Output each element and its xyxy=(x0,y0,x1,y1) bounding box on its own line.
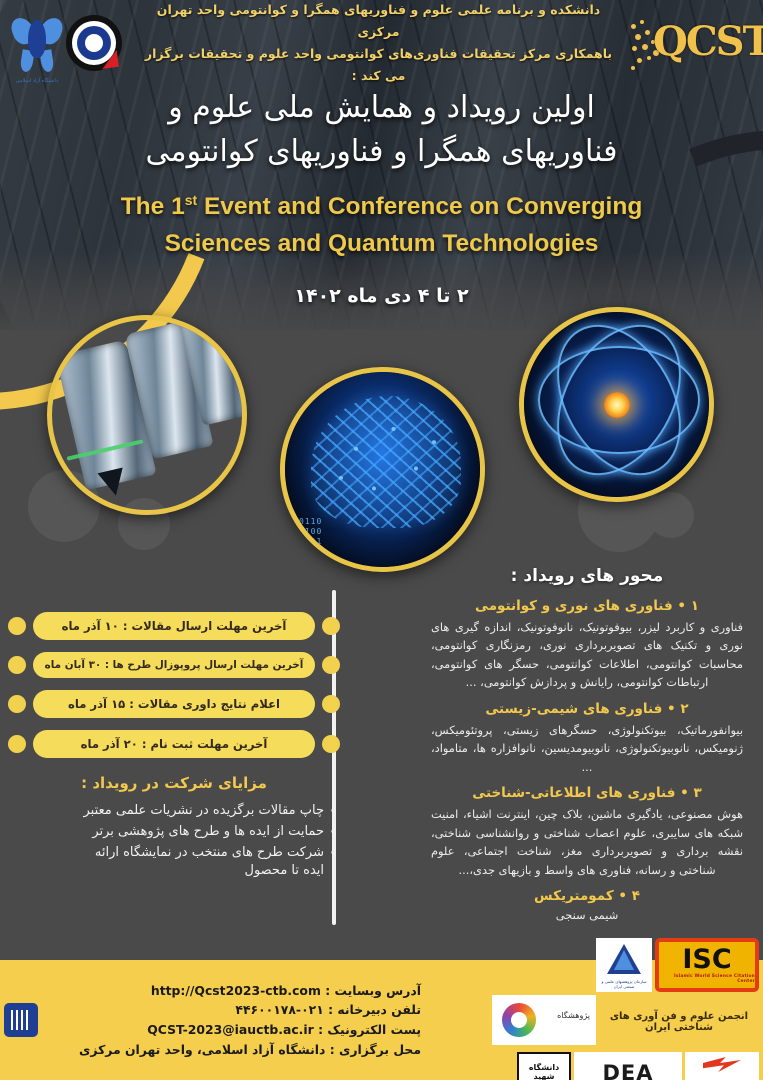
deadline-pill[interactable]: آخرین مهلت ارسال مقالات : ۱۰ آذر ماه xyxy=(33,612,315,640)
deadlines-column: آخرین مهلت ارسال مقالات : ۱۰ آذر ماه آخر… xyxy=(8,560,340,878)
email-label: پست الکترونیک : xyxy=(318,1022,421,1037)
topic-number: ۲ xyxy=(680,701,688,717)
email-address[interactable]: QCST-2023@iauctb.ac.ir xyxy=(147,1020,313,1040)
bullet-dot-icon xyxy=(322,617,340,635)
deadline-row: آخرین مهلت ارسال مقالات : ۱۰ آذر ماه xyxy=(8,612,340,640)
binary-digits-text: 0110010010011001 xyxy=(299,517,322,557)
atom-photo xyxy=(519,307,714,502)
english-title: The 1st Event and Conference on Convergi… xyxy=(0,189,763,263)
phone-number: ۰۲۱-۴۴۶۰۰۱۷۸ xyxy=(235,1002,323,1017)
islamic-azad-university-logo: دانشگاه آزاد اسلامی xyxy=(12,12,62,74)
email-line: پست الکترونیک : QCST-2023@iauctb.ac.ir xyxy=(46,1020,421,1040)
poster-footer: ISC Islamic World Science Citation Cente… xyxy=(0,960,763,1080)
event-date: ۲ تا ۴ دی ماه ۱۴۰۲ xyxy=(0,285,763,307)
topic-item: ۴ • کمومتریکس شیمی سنجی xyxy=(431,888,743,922)
venue-line: محل برگزاری : دانشگاه آزاد اسلامی، واحد … xyxy=(46,1040,421,1060)
power-research-logo: پژوهشگاه نیرو xyxy=(685,1052,759,1080)
topics-heading: محور های رویداد : xyxy=(431,566,743,586)
microscope-photo xyxy=(47,315,247,515)
conference-poster: QCST دانشکده و برنامه علمی علوم و فناوری… xyxy=(0,0,763,1080)
deadline-pill[interactable]: آخرین مهلت ارسال پروپوزال طرح ها : ۳۰ آب… xyxy=(33,652,315,678)
association-logo-text: انجمن علوم و فن آوری های شناختی ایران xyxy=(603,1011,755,1033)
benefit-item: حمایت از ایده ها و طرح های پژوهشی برتر xyxy=(8,821,340,842)
topic-title: ۲ • فناوری های شیمی-زیستی xyxy=(431,701,743,717)
english-title-line-1: The 1st Event and Conference on Convergi… xyxy=(30,189,733,226)
phone-label: تلفن دبیرخانه : xyxy=(328,1002,421,1017)
topics-column: محور های رویداد : ۱ • فناوری های نوری و … xyxy=(425,560,755,922)
phone-line: تلفن دبیرخانه : ۰۲۱-۴۴۶۰۰۱۷۸ xyxy=(46,1000,421,1020)
topic-number: ۴ xyxy=(632,888,640,904)
dea-logo: DEA IRANIAN DEA SOCIETY xyxy=(574,1052,682,1080)
bullet-dot-icon xyxy=(8,617,26,635)
venue-text: دانشگاه آزاد اسلامی، واحد تهران مرکزی xyxy=(79,1042,325,1057)
topic-name: فناوری های اطلاعاتی-شناختی xyxy=(472,785,675,801)
footer-contact-block: آدرس وبسایت : http://Qcst2023-ctb.com تل… xyxy=(0,960,431,1080)
header-logos: دانشگاه آزاد اسلامی xyxy=(4,3,130,83)
topic-title: ۴ • کمومتریکس xyxy=(431,888,743,904)
contact-lines: آدرس وبسایت : http://Qcst2023-ctb.com تل… xyxy=(46,981,421,1059)
isc-logo-title: ISC xyxy=(682,946,731,973)
topic-number: ۱ xyxy=(691,598,699,614)
iau-logo-caption: دانشگاه آزاد اسلامی xyxy=(12,78,62,84)
topic-name: کمومتریکس xyxy=(534,888,614,904)
rainbow-circle-logo: پژوهشگاه xyxy=(492,995,596,1045)
bullet-dot-icon xyxy=(322,656,340,674)
header-line-1: دانشکده و برنامه علمی علوم و فناوریهای ه… xyxy=(138,0,619,43)
deadline-row: آخرین مهلت ثبت نام : ۲۰ آذر ماه xyxy=(8,730,340,758)
bullet-dot-icon xyxy=(322,735,340,753)
benefit-continuation: ایده تا محصول xyxy=(8,863,340,878)
qcst-logo-text: QCST xyxy=(653,18,763,65)
cognitive-science-association-logo: انجمن علوم و فن آوری های شناختی ایران xyxy=(599,995,759,1049)
poster-header: QCST دانشکده و برنامه علمی علوم و فناوری… xyxy=(0,0,763,86)
isc-logo: ISC Islamic World Science Citation Cente… xyxy=(655,938,759,992)
deadline-row: اعلام نتایج داوری مقالات : ۱۵ آذر ماه xyxy=(8,690,340,718)
website-url[interactable]: http://Qcst2023-ctb.com xyxy=(151,981,321,1001)
topic-name: فناوری های شیمی-زیستی xyxy=(485,701,662,717)
benefit-item: چاپ مقالات برگزیده در نشریات علمی معتبر xyxy=(8,800,340,821)
sbu-logo-text: دانشگاه شهید بهشتی xyxy=(521,1063,567,1080)
ordinal-suffix: st xyxy=(185,192,197,208)
poster-body: محور های رویداد : ۱ • فناوری های نوری و … xyxy=(0,560,763,960)
irost-logo-caption: سازمان پژوهشهای علمی و صنعتی ایران xyxy=(596,979,652,989)
circuit-brain-photo: 0110010010011001 xyxy=(280,367,485,572)
title-block: اولین رویداد و همایش ملی علوم و فناوریها… xyxy=(0,86,763,307)
topic-item: ۳ • فناوری های اطلاعاتی-شناختی هوش مصنوع… xyxy=(431,785,743,879)
bullet-dot-icon xyxy=(8,735,26,753)
topic-body: هوش مصنوعی، یادگیری ماشین، بلاک چین، این… xyxy=(431,805,743,879)
english-title-prefix: The 1 xyxy=(121,193,185,220)
topic-title: ۱ • فناوری های نوری و کوانتومی xyxy=(431,598,743,614)
benefit-item: شرکت طرح های منتخب در نمایشگاه ارائه xyxy=(8,842,340,863)
dea-logo-title: DEA xyxy=(602,1063,653,1080)
header-organizer-text: دانشکده و برنامه علمی علوم و فناوریهای ه… xyxy=(130,0,627,87)
english-title-line-2: Sciences and Quantum Technologies xyxy=(30,226,733,263)
footer-sponsor-logos: ISC Islamic World Science Citation Cente… xyxy=(431,960,763,1080)
deadline-pill[interactable]: اعلام نتایج داوری مقالات : ۱۵ آذر ماه xyxy=(33,690,315,718)
header-line-2: باهمکاری مرکز تحقیقات فناوری‌های کوانتوم… xyxy=(138,43,619,87)
irost-triangle-logo: سازمان پژوهشهای علمی و صنعتی ایران xyxy=(596,938,652,992)
isc-logo-subtitle: Islamic World Science Citation Center xyxy=(659,975,755,984)
topic-item: ۲ • فناوری های شیمی-زیستی بیوانفورماتیک،… xyxy=(431,701,743,776)
deadline-pill[interactable]: آخرین مهلت ثبت نام : ۲۰ آذر ماه xyxy=(33,730,315,758)
website-line: آدرس وبسایت : http://Qcst2023-ctb.com xyxy=(46,981,421,1001)
topic-name: فناوری های نوری و کوانتومی xyxy=(475,598,673,614)
feature-image-row: 0110010010011001 xyxy=(0,305,763,570)
bullet-dot-icon xyxy=(8,695,26,713)
english-title-rest: Event and Conference on Converging xyxy=(197,193,642,220)
bullet-dot-icon xyxy=(322,695,340,713)
building-icon xyxy=(4,1003,38,1037)
persian-title: اولین رویداد و همایش ملی علوم و فناوریها… xyxy=(0,86,763,173)
topic-body: بیوانفورماتیک، بیوتکنولوژی، حسگرهای زیست… xyxy=(431,721,743,776)
benefits-heading: مزایای شرکت در رویداد : xyxy=(8,774,340,792)
persian-title-line-2: فناوریهای همگرا و فناوریهای کوانتومی xyxy=(40,130,723,174)
venue-label: محل برگزاری : xyxy=(330,1042,421,1057)
website-label: آدرس وبسایت : xyxy=(325,983,421,998)
qcst-logo: QCST xyxy=(627,4,759,82)
topic-number: ۳ xyxy=(693,785,701,801)
topic-body: فناوری و کاربرد لیزر، بیوفوتونیک، نانوفو… xyxy=(431,618,743,692)
quantum-research-center-logo xyxy=(66,15,122,71)
bullet-dot-icon xyxy=(8,656,26,674)
lightning-bolt-icon xyxy=(703,1057,741,1072)
topic-item: ۱ • فناوری های نوری و کوانتومی فناوری و … xyxy=(431,598,743,692)
deadline-row: آخرین مهلت ارسال پروپوزال طرح ها : ۳۰ آب… xyxy=(8,652,340,678)
topic-title: ۳ • فناوری های اطلاعاتی-شناختی xyxy=(431,785,743,801)
shahid-beheshti-university-logo: دانشگاه شهید بهشتی xyxy=(517,1052,571,1080)
rainbow-logo-text: پژوهشگاه xyxy=(557,1011,590,1020)
persian-title-line-1: اولین رویداد و همایش ملی علوم و xyxy=(40,86,723,130)
topic-body: شیمی سنجی xyxy=(431,908,743,922)
